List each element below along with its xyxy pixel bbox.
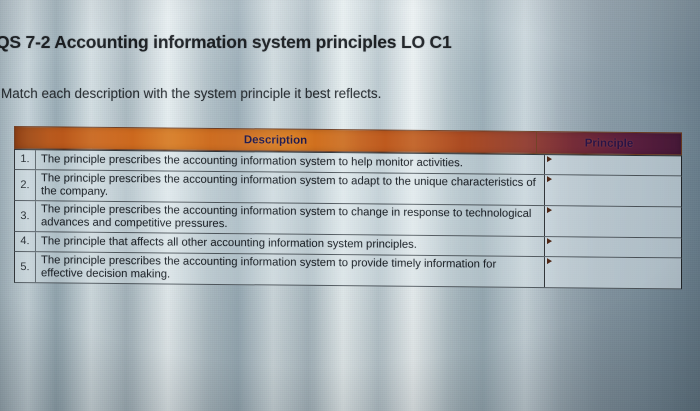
- worksheet-photo: QS 7-2 Accounting information system pri…: [0, 0, 700, 411]
- principle-dropdown[interactable]: [545, 237, 681, 257]
- row-number: 1.: [15, 150, 36, 169]
- exercise-title: QS 7-2 Accounting information system pri…: [0, 32, 452, 53]
- worksheet-content: QS 7-2 Accounting information system pri…: [0, 0, 700, 411]
- dropdown-arrow-icon: [547, 207, 552, 213]
- table-row: 5. The principle prescribes the accounti…: [14, 252, 682, 289]
- row-description: The principle prescribes the accounting …: [36, 252, 545, 287]
- matching-table: Description Principle 1. The principle p…: [14, 126, 682, 289]
- row-description: The principle prescribes the accounting …: [36, 170, 545, 205]
- row-description: The principle prescribes the accounting …: [36, 201, 545, 236]
- dropdown-arrow-icon: [547, 238, 552, 244]
- row-number: 3.: [15, 201, 36, 231]
- row-number: 5.: [15, 252, 36, 282]
- dropdown-arrow-icon: [547, 176, 552, 182]
- row-number: 4.: [15, 232, 36, 251]
- row-number: 2.: [15, 170, 36, 200]
- dropdown-arrow-icon: [547, 156, 552, 162]
- column-header-principle: Principle: [537, 132, 681, 154]
- exercise-instruction: Match each description with the system p…: [1, 86, 381, 101]
- principle-dropdown[interactable]: [545, 175, 681, 206]
- principle-dropdown[interactable]: [545, 257, 681, 288]
- principle-dropdown[interactable]: [545, 155, 681, 175]
- dropdown-arrow-icon: [547, 258, 552, 264]
- principle-dropdown[interactable]: [545, 206, 681, 237]
